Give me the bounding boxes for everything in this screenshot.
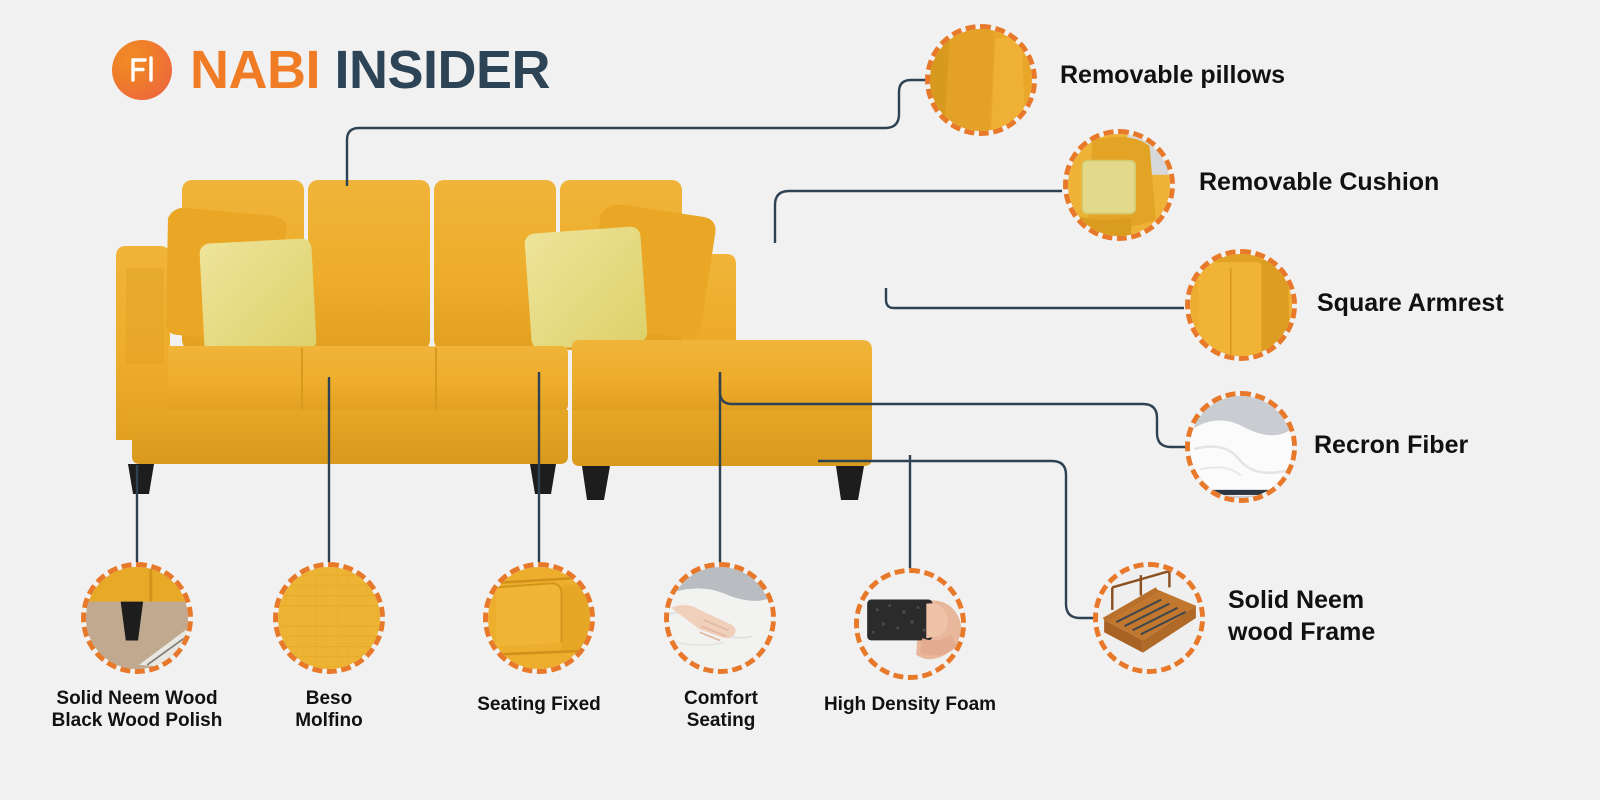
pillow-closeup-icon xyxy=(925,24,1037,136)
armrest-closeup-icon xyxy=(1185,249,1297,361)
feature-label-square-armrest: Square Armrest xyxy=(1317,289,1504,319)
brand-header: NABI INSIDER xyxy=(112,40,550,100)
label-line-1: High Density Foam xyxy=(820,694,1000,716)
feature-label-comfort-seating: Comfort Seating xyxy=(650,688,792,733)
label-line-1: Comfort xyxy=(650,688,792,710)
feature-label-solid-neem-wood-frame: Solid Neem wood Frame xyxy=(1228,584,1375,648)
label-line-2: wood Frame xyxy=(1228,616,1375,648)
feature-label-removable-cushion: Removable Cushion xyxy=(1199,168,1439,198)
label-line-1: Solid Neem xyxy=(1228,584,1375,616)
fixed-seat-closeup-icon xyxy=(483,562,595,674)
label-line-2: Seating xyxy=(650,710,792,732)
foam-block-in-hand-icon xyxy=(854,568,966,680)
brand-name-secondary: INSIDER xyxy=(335,40,551,100)
label-line-2: Molfino xyxy=(249,710,409,732)
label-line-1: Solid Neem Wood xyxy=(37,688,237,710)
hand-pressing-foam-icon xyxy=(664,562,776,674)
feature-label-high-density-foam: High Density Foam xyxy=(820,694,1000,716)
label-line-1: Seating Fixed xyxy=(449,694,629,716)
cushion-closeup-icon xyxy=(1063,129,1175,241)
feature-label-removable-pillows: Removable pillows xyxy=(1060,61,1285,91)
infographic-canvas: NABI INSIDER xyxy=(0,0,1600,800)
fiber-filling-icon xyxy=(1185,391,1297,503)
page-title: NABI INSIDER xyxy=(190,43,550,97)
feature-label-solid-neem-wood-black-polish: Solid Neem Wood Black Wood Polish xyxy=(37,688,237,733)
wood-frame-icon xyxy=(1093,562,1205,674)
sofa-leg-on-floor-icon xyxy=(81,562,193,674)
fabric-swatch-icon xyxy=(273,562,385,674)
feature-label-recron-fiber: Recron Fiber xyxy=(1314,431,1468,461)
furniture-brand-logo-icon xyxy=(112,40,172,100)
product-image-sofa xyxy=(110,178,960,508)
label-line-1: Beso xyxy=(249,688,409,710)
label-line-2: Black Wood Polish xyxy=(37,710,237,732)
feature-label-beso-molfino: Beso Molfino xyxy=(249,688,409,733)
brand-name-primary: NABI xyxy=(190,40,320,100)
feature-label-seating-fixed: Seating Fixed xyxy=(449,694,629,716)
